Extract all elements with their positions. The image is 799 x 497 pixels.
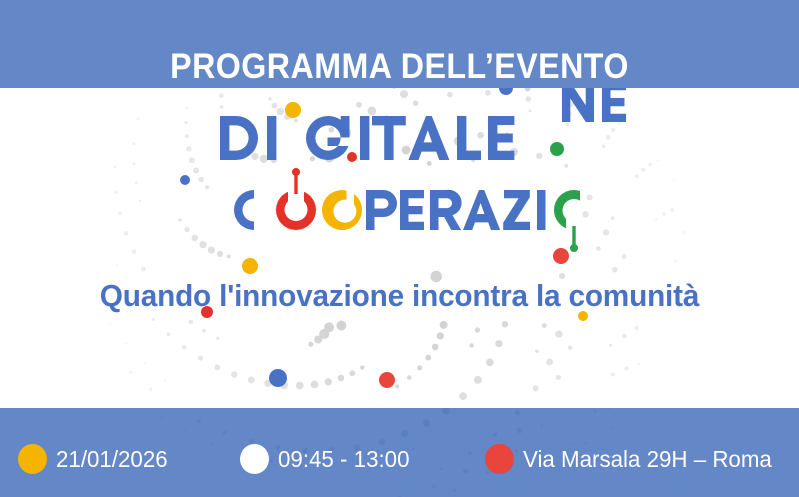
event-time-label: 09:45 - 13:00 — [278, 444, 409, 474]
event-location-item: Via Marsala 29H – Roma — [485, 444, 780, 474]
cooperazione-digitale-logo-icon — [220, 168, 580, 276]
event-logo — [0, 168, 799, 276]
event-date-item: 21/01/2026 — [18, 444, 171, 474]
header-band: PROGRAMMA DELL’EVENTO — [0, 0, 799, 88]
event-date-label: 21/01/2026 — [56, 444, 168, 474]
event-time-item: 09:45 - 13:00 — [240, 444, 414, 474]
time-dot-icon — [240, 444, 269, 474]
footer-band: 21/01/2026 09:45 - 13:00 Via Marsala 29H… — [0, 408, 799, 497]
page-title: PROGRAMMA DELL’EVENTO — [32, 23, 767, 88]
location-dot-icon — [485, 444, 514, 474]
date-dot-icon — [18, 444, 47, 474]
footer-details: 21/01/2026 09:45 - 13:00 Via Marsala 29H… — [0, 408, 799, 497]
tagline-text: Quando l'innovazione incontra la comunit… — [100, 278, 699, 313]
event-tagline: Quando l'innovazione incontra la comunit… — [16, 278, 783, 314]
event-program-poster: PROGRAMMA DELL’EVENTO — [0, 0, 799, 497]
event-location-label: Via Marsala 29H – Roma — [523, 444, 772, 474]
